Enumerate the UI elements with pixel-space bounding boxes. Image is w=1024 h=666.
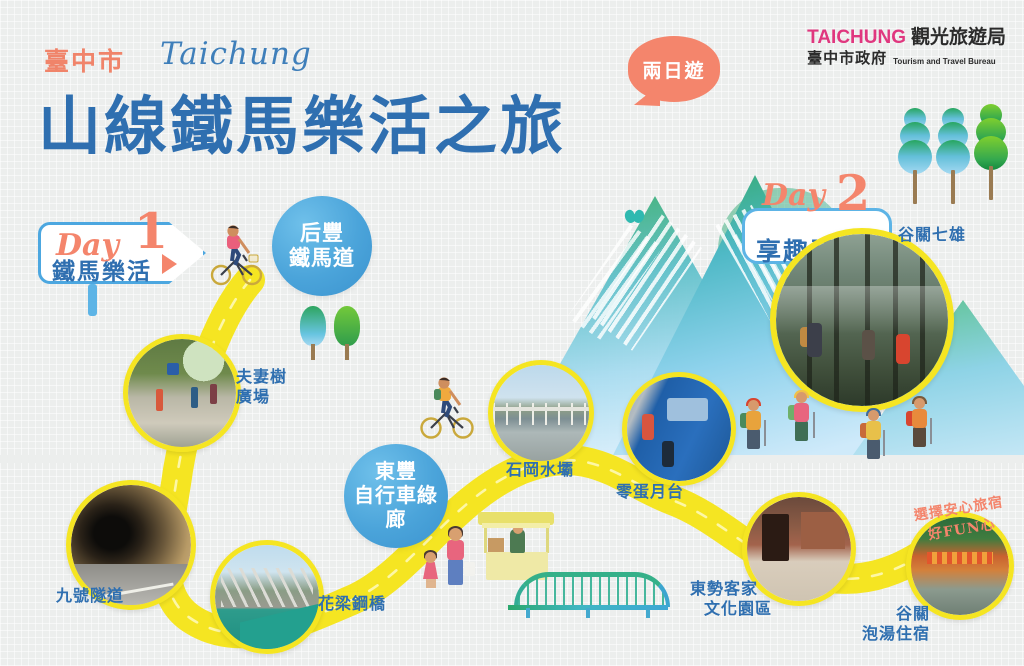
logo-government-zh: 臺中市政府 [807,51,887,66]
route-node-houfeng-line1: 后豐 [289,221,355,246]
label-line1: 夫妻樹 [236,368,287,388]
label-fuqi-tree-plaza: 夫妻樹 廣場 [236,368,287,409]
two-day-trip-label: 兩日遊 [628,36,720,102]
route-node-dongfeng-line1: 東豐 [344,460,448,484]
adult-pedestrian-figure [440,528,474,586]
photo-fuqi-tree-plaza[interactable] [123,334,241,452]
arch-bridge-illustration [508,570,668,618]
hiker-figure [790,392,816,444]
route-node-houfeng-line2: 鐵馬道 [289,246,355,271]
two-day-trip-badge: 兩日遊 [628,36,720,102]
poster-canvas: 臺中市 Taichung 山線鐵馬樂活之旅 兩日遊 TAICHUNG 觀光旅遊局… [0,0,1024,666]
city-name-romanized: Taichung [160,36,312,72]
photo-guguan-hiking[interactable] [770,228,954,412]
day1-number: 1 [134,202,168,260]
route-node-dongfeng-line2: 自行車綠廊 [344,484,448,532]
label-tunnel-no9: 九號隧道 [56,587,124,607]
label-line2: 文化園區 [690,600,772,620]
hiker-figure [908,398,934,450]
cyclist-figure [415,376,477,440]
label-hualiang-steel-bridge: 花梁鋼橋 [318,595,386,615]
route-node-houfeng[interactable]: 后豐 鐵馬道 [272,196,372,296]
label-line2: 廣場 [236,388,287,408]
photo-zero-egg-platform[interactable] [622,372,736,486]
day1-day-word: Day [56,228,119,263]
hiker-figure [862,410,888,462]
day2-day-word: Day [762,178,825,213]
label-guguan-seven-heroes: 谷關七雄 [898,226,966,246]
photo-hualiang-steel-bridge[interactable] [210,540,324,654]
hiker-figure [742,400,768,452]
label-shigang-dam: 石岡水壩 [506,461,574,481]
signpost-pole [88,284,97,316]
label-zero-egg-platform: 零蛋月台 [616,483,684,503]
label-dongshi-hakka-culture-park: 東勢客家 文化園區 [690,580,772,621]
logo-taichung-text: TAICHUNG [807,28,906,47]
logo-bureau-en: Tourism and Travel Bureau [893,58,996,66]
label-line2: 泡湯住宿 [862,625,930,645]
route-node-dongfeng[interactable]: 東豐 自行車綠廊 [344,444,448,548]
label-guguan-hotspring-lodging: 谷關 泡湯住宿 [862,605,930,646]
cyclist-figure [205,225,265,287]
logo-bureau-zh: 觀光旅遊局 [911,28,1006,47]
child-pedestrian-figure [420,552,442,588]
city-name-zh: 臺中市 [44,42,125,78]
page-title: 山線鐵馬樂活之旅 [38,76,566,167]
tourism-bureau-logo: TAICHUNG 觀光旅遊局 臺中市政府 Tourism and Travel … [807,28,1006,66]
label-line1: 谷關 [862,605,930,625]
label-line1: 東勢客家 [690,580,772,600]
day2-number: 2 [836,164,870,222]
photo-shigang-dam[interactable] [488,360,594,466]
